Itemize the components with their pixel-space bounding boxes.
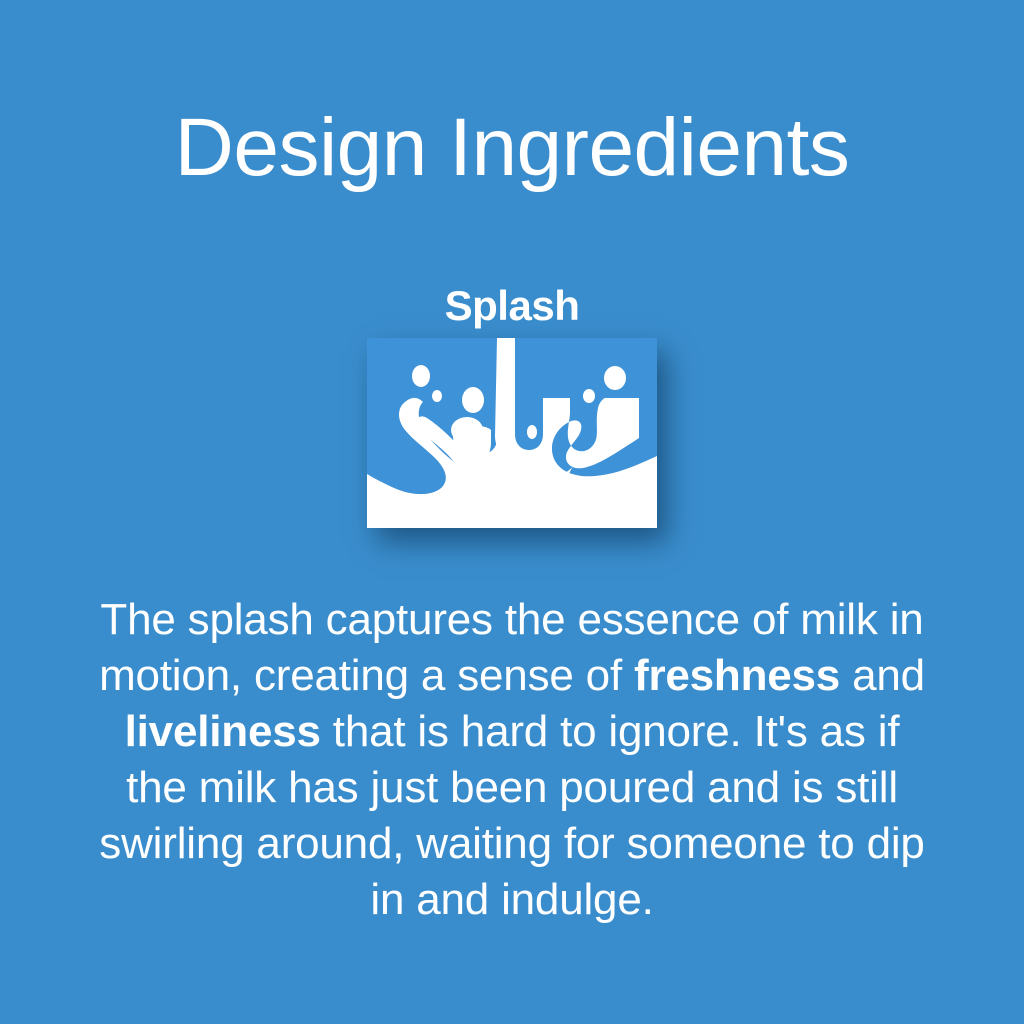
body-text: and: [840, 651, 925, 700]
splash-image-card: [367, 338, 657, 528]
card-label: Splash: [445, 282, 580, 330]
body-emphasis: liveliness: [125, 707, 321, 756]
ingredient-card-block: Splash: [0, 282, 1024, 528]
body-copy: The splash captures the essence of milk …: [92, 592, 932, 928]
body-emphasis: freshness: [634, 651, 840, 700]
page-title: Design Ingredients: [0, 100, 1024, 196]
milk-splash-icon: [367, 338, 657, 528]
slide-root: Design Ingredients Splash: [0, 0, 1024, 1024]
